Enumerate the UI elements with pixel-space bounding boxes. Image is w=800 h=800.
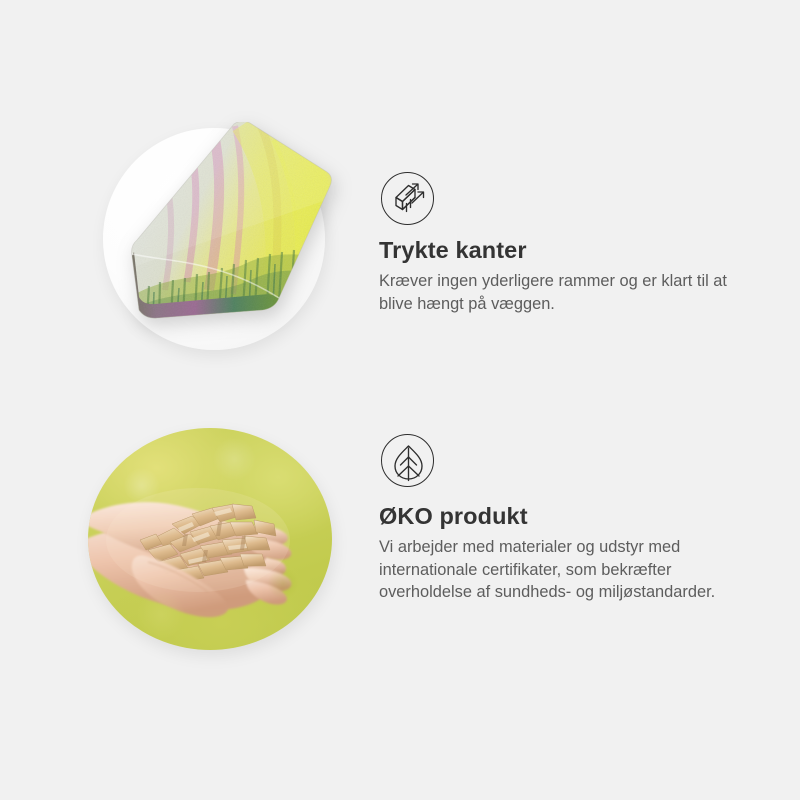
canvas-wrapped-edge-icon: [381, 172, 434, 225]
canvas-print-corner-illustration: [129, 122, 334, 337]
printed-edges-image: [103, 128, 329, 356]
feature-printed-edges: Trykte kanter Kræver ingen yderligere ra…: [0, 0, 800, 400]
feature-title: Trykte kanter: [379, 237, 751, 264]
printed-edges-text-block: Trykte kanter Kræver ingen yderligere ra…: [379, 237, 751, 315]
product-features-page: Trykte kanter Kræver ingen yderligere ra…: [0, 0, 800, 800]
feature-description: Kræver ingen yderligere rammer og er kla…: [379, 270, 751, 315]
eco-product-text-block: ØKO produkt Vi arbejder med materialer o…: [379, 503, 751, 604]
eco-product-image: [88, 428, 336, 676]
feature-description: Vi arbejder med materialer og udstyr med…: [379, 536, 751, 604]
leaf-icon: [381, 434, 434, 487]
feature-title: ØKO produkt: [379, 503, 751, 530]
feature-eco-product: ØKO produkt Vi arbejder med materialer o…: [0, 400, 800, 800]
green-circle-backdrop: [88, 428, 332, 650]
hands-with-wood-chips-illustration: [88, 428, 332, 650]
